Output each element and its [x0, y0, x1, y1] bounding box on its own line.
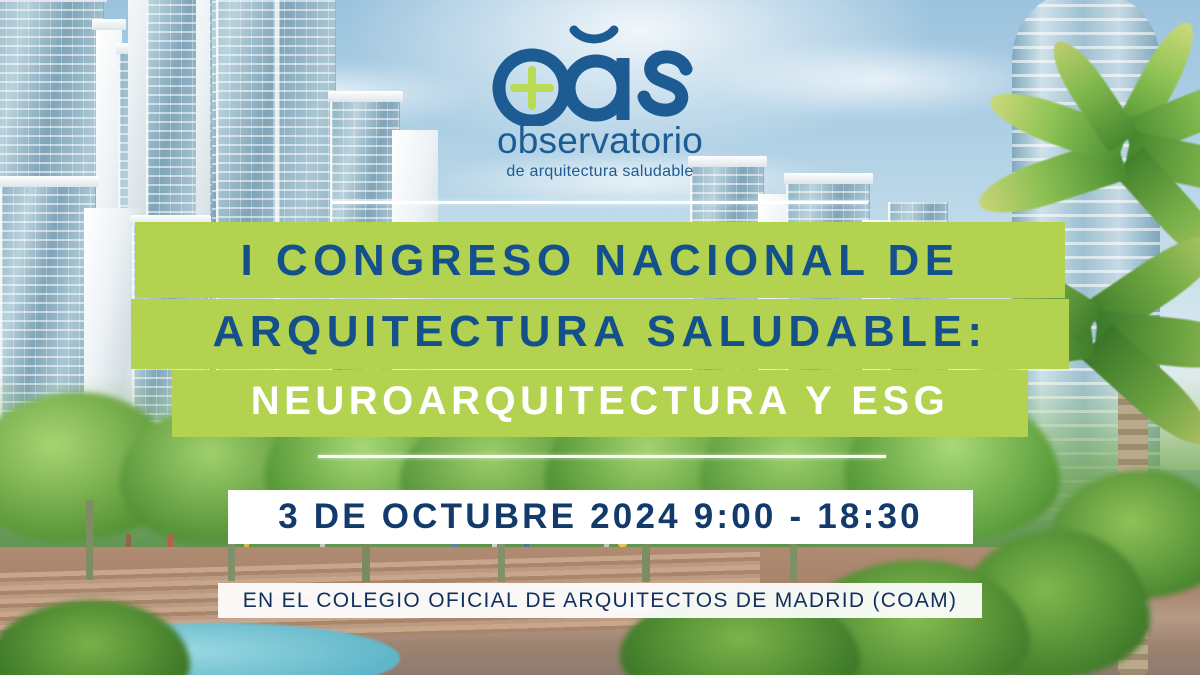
letter-s [644, 57, 686, 110]
event-poster: observatorio de arquitectura saludable I… [0, 0, 1200, 675]
breve-accent-icon [574, 30, 614, 39]
oas-logo: observatorio de arquitectura saludable [0, 14, 1200, 180]
poster-title: I CONGRESO NACIONAL DE ARQUITECTURA SALU… [0, 222, 1200, 438]
title-line-2: ARQUITECTURA SALUDABLE: [131, 299, 1069, 369]
park-visitor [168, 534, 173, 547]
event-venue: EN EL COLEGIO OFICIAL DE ARQUITECTOS DE … [218, 583, 982, 618]
oas-logo-mark [490, 14, 710, 126]
title-line-3: NEUROARQUITECTURA Y ESG [172, 370, 1028, 437]
event-date: 3 DE OCTUBRE 2024 9:00 - 18:30 [228, 490, 973, 544]
divider-rule-top [332, 201, 868, 204]
plus-cross-icon [514, 70, 550, 106]
logo-wordmark: observatorio [0, 122, 1200, 159]
title-line-1: I CONGRESO NACIONAL DE [135, 222, 1065, 298]
logo-tagline: de arquitectura saludable [0, 164, 1200, 180]
letter-a [569, 58, 623, 120]
divider-rule-bottom [318, 455, 886, 458]
tree-trunk [86, 500, 93, 580]
park-visitor [126, 534, 131, 547]
